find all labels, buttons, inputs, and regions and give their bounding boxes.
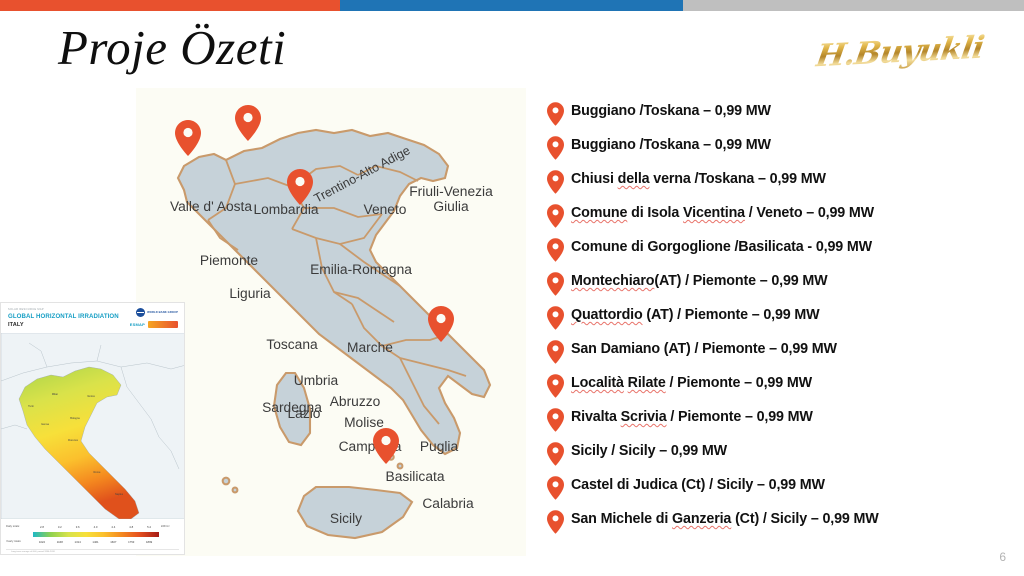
legend-daily-row: Daily totals: 2.8 3.2 3.6 4.0 4.4 4.8 5.… (6, 523, 179, 531)
region-label: Giulia (433, 199, 469, 214)
project-list-item-label: Sicily / Sicily – 0,99 MW (571, 440, 727, 461)
region-label: Toscana (266, 337, 318, 352)
map-pin-lombardia[interactable] (235, 105, 261, 141)
inset-map-svg: Milan Turin Genoa Venice Bologna Florenc… (1, 333, 184, 519)
project-list-item-label: Montechiaro(AT) / Piemonte – 0,99 MW (571, 270, 827, 291)
region-label: Abruzzo (330, 394, 381, 409)
legend-tick: 1753 (122, 538, 140, 546)
region-label: Basilicata (386, 469, 445, 484)
inset-city-label: Rome (94, 470, 101, 474)
location-pin-icon (547, 374, 564, 398)
region-label: Veneto (364, 202, 407, 217)
legend-yearly-label: Yearly totals: (6, 538, 30, 546)
region-label: Piemonte (200, 253, 259, 268)
project-list-item: San Damiano (AT) / Piemonte – 0,99 MW (547, 338, 1007, 372)
esmap-row: ESMAP (130, 321, 178, 328)
inset-city-label: Florence (68, 438, 79, 442)
project-list-item: Castel di Judica (Ct) / Sicily – 0,99 MW (547, 474, 1007, 508)
legend-tick: 4.8 (122, 523, 140, 531)
legend-daily-values: 2.8 3.2 3.6 4.0 4.4 4.8 5.2 (33, 523, 158, 531)
project-list-item: Rivalta Scrivia / Piemonte – 0,99 MW (547, 406, 1007, 440)
project-list-item-label: Rivalta Scrivia / Piemonte – 0,99 MW (571, 406, 813, 427)
location-pin-icon (547, 476, 564, 500)
project-list-item-label: Buggiano /Toskana – 0,99 MW (571, 100, 771, 121)
brand-signature-logo: H.Buyukli (807, 26, 992, 78)
location-pin-icon (547, 238, 564, 262)
island-dot (233, 488, 238, 493)
map-pin-sicily[interactable] (373, 428, 399, 464)
project-list-item: Sicily / Sicily – 0,99 MW (547, 440, 1007, 474)
world-bank-logo-text: WORLD BANK GROUP (147, 311, 178, 314)
page-number: 6 (999, 550, 1006, 564)
legend-tick: 4.4 (104, 523, 122, 531)
solargis-badge (148, 321, 178, 328)
legend-tick: 1168 (51, 538, 69, 546)
map-pin-puglia[interactable] (428, 306, 454, 342)
region-label: Liguria (229, 286, 271, 301)
legend-unit: kWh/m² (161, 523, 179, 531)
inset-legend: Daily totals: 2.8 3.2 3.6 4.0 4.4 4.8 5.… (1, 519, 184, 553)
project-list-item: Chiusi della verna /Toskana – 0,99 MW (547, 168, 1007, 202)
region-label: Sardegna (262, 400, 322, 415)
brand-signature-text: H.Buyukli (813, 30, 986, 75)
region-label: Valle d' Aosta (170, 199, 252, 214)
world-bank-logo: WORLD BANK GROUP (136, 308, 178, 317)
inset-city-label: Bologna (70, 416, 80, 420)
inset-header: SOLAR RESOURCE MAP GLOBAL HORIZONTAL IRR… (1, 303, 184, 333)
legend-yearly-row: Yearly totals: 1022 1168 1314 1461 1607 … (6, 538, 179, 546)
project-list-item-label: San Damiano (AT) / Piemonte – 0,99 MW (571, 338, 837, 359)
inset-city-label: Venice (87, 394, 95, 398)
project-list-item-label: Comune di Gorgoglione /Basilicata - 0,99… (571, 236, 872, 257)
legend-color-gradient-bar (33, 532, 159, 537)
accent-segment-orange (0, 0, 340, 11)
project-list-item: Montechiaro(AT) / Piemonte – 0,99 MW (547, 270, 1007, 304)
inset-city-label: Turin (28, 404, 34, 408)
project-list-item: Comune di Isola Vicentina / Veneto – 0,9… (547, 202, 1007, 236)
island-dot (223, 478, 230, 485)
project-list-item-label: Località Rilate / Piemonte – 0,99 MW (571, 372, 812, 393)
italy-map-svg: Valle d' Aosta Piemonte Lombardia Trenti… (136, 88, 526, 556)
legend-tick: 1461 (87, 538, 105, 546)
legend-tick: 2.8 (33, 523, 51, 531)
italy-map-panel: Valle d' Aosta Piemonte Lombardia Trenti… (136, 88, 526, 556)
inset-city-label: Naples (115, 492, 124, 496)
project-list-item-label: San Michele di Ganzeria (Ct) / Sicily – … (571, 508, 879, 529)
inset-city-label: Milan (52, 392, 59, 396)
location-pin-icon (547, 204, 564, 228)
globe-icon (136, 308, 145, 317)
location-pin-icon (547, 272, 564, 296)
project-list: Buggiano /Toskana – 0,99 MWBuggiano /Tos… (547, 100, 1007, 542)
esmap-label: ESMAP (130, 322, 145, 327)
accent-segment-gray (683, 0, 1024, 11)
location-pin-icon (547, 102, 564, 126)
accent-segment-blue (340, 0, 683, 11)
region-label: Puglia (420, 439, 459, 454)
region-label: Friuli-Venezia (409, 184, 493, 199)
location-pin-icon (547, 340, 564, 364)
region-label: Emilia-Romagna (310, 262, 412, 277)
map-pin-emilia-romagna[interactable] (287, 169, 313, 205)
location-pin-icon (547, 170, 564, 194)
map-pin-piemonte[interactable] (175, 120, 201, 156)
location-pin-icon (547, 510, 564, 534)
inset-footer: Long-term average of GHI, period 1994-20… (6, 549, 179, 555)
inset-footer-text: Long-term average of GHI, period 1994-20… (6, 550, 179, 553)
project-list-item-label: Chiusi della verna /Toskana – 0,99 MW (571, 168, 826, 189)
location-pin-icon (547, 408, 564, 432)
project-list-item: Buggiano /Toskana – 0,99 MW (547, 134, 1007, 168)
legend-tick: 1607 (104, 538, 122, 546)
inset-irradiation-map: Milan Turin Genoa Venice Bologna Florenc… (1, 333, 184, 519)
location-pin-icon (547, 306, 564, 330)
project-list-item: Quattordio (AT) / Piemonte – 0,99 MW (547, 304, 1007, 338)
project-list-item: Località Rilate / Piemonte – 0,99 MW (547, 372, 1007, 406)
legend-yearly-values: 1022 1168 1314 1461 1607 1753 1899 (33, 538, 158, 546)
legend-tick: 3.2 (51, 523, 69, 531)
page-title: Proje Özeti (58, 22, 286, 73)
region-label: Sicily (330, 511, 362, 526)
legend-tick: 1022 (33, 538, 51, 546)
region-label: Marche (347, 340, 393, 355)
solar-resource-map-inset: SOLAR RESOURCE MAP GLOBAL HORIZONTAL IRR… (0, 302, 185, 555)
location-pin-icon (547, 136, 564, 160)
legend-tick: 3.6 (69, 523, 87, 531)
project-list-item-label: Castel di Judica (Ct) / Sicily – 0,99 MW (571, 474, 825, 495)
legend-tick: 1899 (140, 538, 158, 546)
region-label: Umbria (294, 373, 339, 388)
island-dot (398, 464, 403, 469)
legend-tick: 4.0 (87, 523, 105, 531)
project-list-item: Buggiano /Toskana – 0,99 MW (547, 100, 1007, 134)
legend-tick: 1314 (69, 538, 87, 546)
project-list-item-label: Buggiano /Toskana – 0,99 MW (571, 134, 771, 155)
legend-tick: 5.2 (140, 523, 158, 531)
location-pin-icon (547, 442, 564, 466)
project-list-item-label: Quattordio (AT) / Piemonte – 0,99 MW (571, 304, 820, 325)
project-list-item: San Michele di Ganzeria (Ct) / Sicily – … (547, 508, 1007, 542)
project-list-item: Comune di Gorgoglione /Basilicata - 0,99… (547, 236, 1007, 270)
top-accent-bar (0, 0, 1024, 11)
region-label: Calabria (422, 496, 474, 511)
inset-city-label: Genoa (41, 422, 49, 426)
legend-daily-label: Daily totals: (6, 523, 30, 531)
project-list-item-label: Comune di Isola Vicentina / Veneto – 0,9… (571, 202, 874, 223)
